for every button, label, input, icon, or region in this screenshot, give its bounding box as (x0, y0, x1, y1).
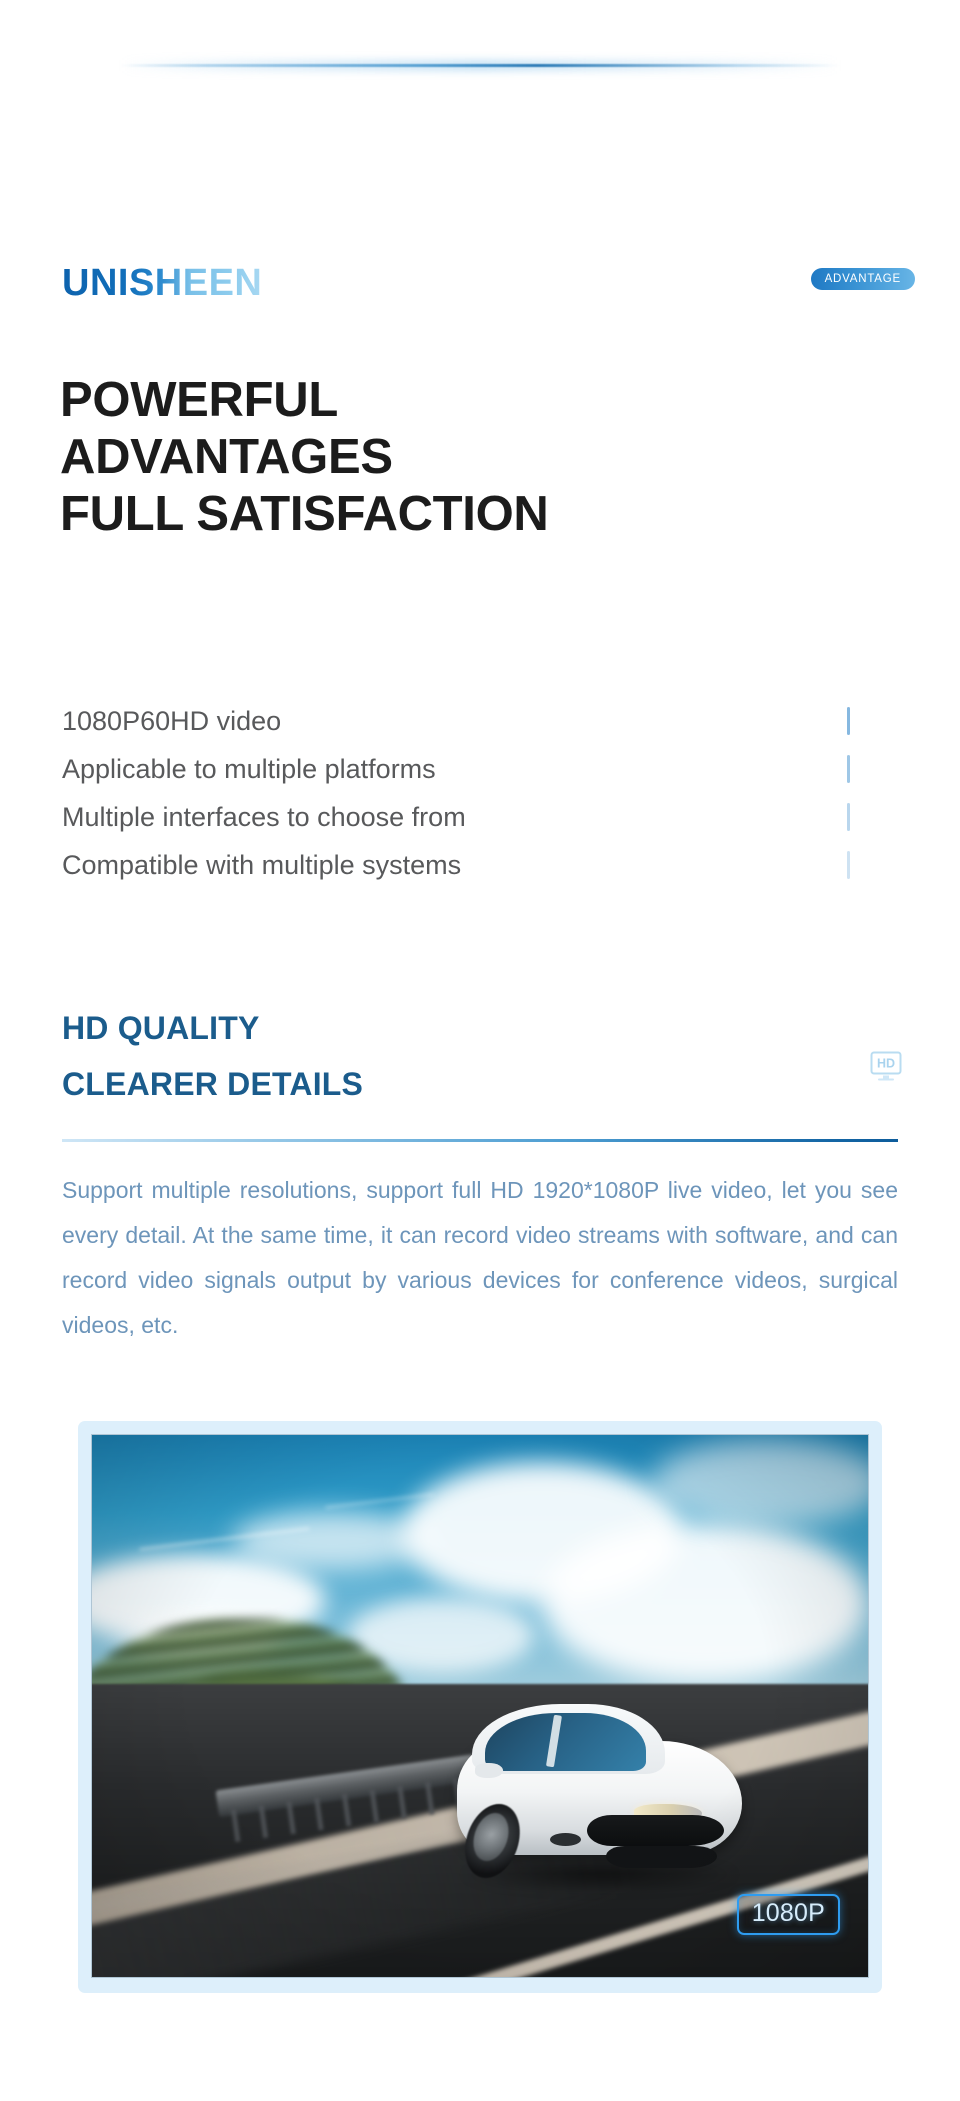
list-item: Multiple interfaces to choose from (62, 793, 898, 841)
headline-line-2: ADVANTAGES (60, 429, 860, 486)
feature-label: Multiple interfaces to choose from (62, 793, 466, 841)
top-decorative-rule (120, 64, 840, 67)
page-title: POWERFUL ADVANTAGES FULL SATISFACTION (60, 372, 860, 543)
car-grille (587, 1815, 724, 1846)
section-description: Support multiple resolutions, support fu… (62, 1168, 898, 1348)
car-lower-grille (606, 1846, 718, 1868)
brand-logo: UNISHEEN (62, 260, 262, 306)
tick-mark-icon (847, 707, 850, 735)
hd-monitor-icon: HD (867, 1050, 905, 1082)
tick-mark-icon (847, 755, 850, 783)
section-title-line-2: CLEARER DETAILS (62, 1056, 363, 1112)
car-side-mirror (475, 1763, 503, 1778)
section-title-line-1: HD QUALITY (62, 1000, 363, 1056)
section-divider (62, 1139, 898, 1142)
svg-text:HD: HD (877, 1057, 895, 1071)
feature-label: Compatible with multiple systems (62, 841, 461, 889)
page-header: UNISHEEN ADVANTAGE (0, 260, 960, 306)
feature-label: Applicable to multiple platforms (62, 745, 436, 793)
list-item: 1080P60HD video (62, 697, 898, 745)
advantage-badge: ADVANTAGE (811, 268, 915, 290)
tick-mark-icon (847, 851, 850, 879)
list-item: Compatible with multiple systems (62, 841, 898, 889)
photo-frame: 1080P (78, 1421, 882, 1993)
section-title: HD QUALITY CLEARER DETAILS (62, 1000, 363, 1112)
feature-label: 1080P60HD video (62, 697, 281, 745)
tick-mark-icon (847, 803, 850, 831)
product-photo: 1080P (92, 1435, 868, 1977)
car-windshield (485, 1713, 646, 1770)
white-car (457, 1701, 767, 1885)
car-foglight (550, 1833, 581, 1846)
feature-list: 1080P60HD video Applicable to multiple p… (62, 697, 898, 889)
cloud (542, 1522, 868, 1685)
resolution-badge: 1080P (737, 1894, 840, 1936)
headline-line-1: POWERFUL (60, 372, 860, 429)
list-item: Applicable to multiple platforms (62, 745, 898, 793)
headline-line-3: FULL SATISFACTION (60, 486, 860, 543)
